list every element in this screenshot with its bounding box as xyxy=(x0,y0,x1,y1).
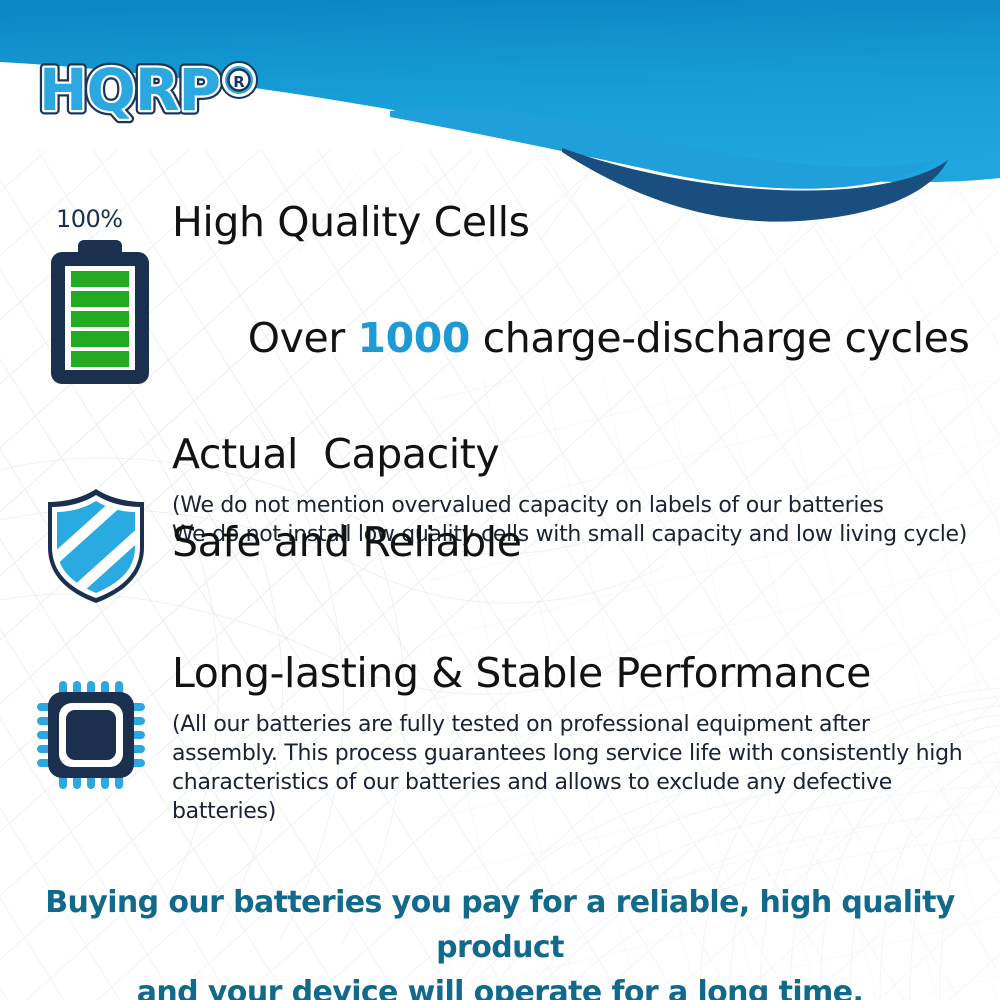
chip-icon-wrap xyxy=(28,672,154,798)
feature-1-heading-1: High Quality Cells xyxy=(172,193,982,251)
logo-registered-mark: R xyxy=(224,65,254,95)
feature-3-heading-1: Long-lasting & Stable Performance xyxy=(172,644,984,702)
feature-3-body-line-1: (All our batteries are fully tested on p… xyxy=(172,710,984,739)
logo-text-fill: HQRP xyxy=(39,58,220,124)
chip-icon xyxy=(28,672,154,798)
chip-core xyxy=(66,710,116,760)
cycles-count: 1000 xyxy=(357,314,470,362)
battery-bar-5 xyxy=(71,271,129,287)
hqrp-logo: HQRP HQRP HQRP R HQRP xyxy=(36,58,266,132)
battery-percent-label: 100% xyxy=(56,205,123,233)
feature-long-lasting-performance: Long-lasting & Stable Performance (All o… xyxy=(172,644,984,826)
heading-suffix: charge-discharge cycles xyxy=(470,314,969,362)
battery-100-icon-wrap: 100% xyxy=(40,200,160,390)
infographic-page: HQRP HQRP HQRP R HQRP 100% xyxy=(0,0,1000,1000)
feature-3-body-line-3: characteristics of our batteries and all… xyxy=(172,768,984,797)
feature-1-heading-2: Over 1000 charge-discharge cycles xyxy=(172,251,982,425)
feature-safe-and-reliable: Safe and Reliable xyxy=(172,513,982,571)
tagline-line-1: Buying our batteries you pay for a relia… xyxy=(0,880,1000,970)
heading-prefix: Over xyxy=(248,314,358,362)
wave-light-ribbon xyxy=(390,107,938,188)
battery-bar-3 xyxy=(71,311,129,327)
battery-bar-4 xyxy=(71,291,129,307)
tagline-line-2: and your device will operate for a long … xyxy=(0,970,1000,1000)
bottom-tagline: Buying our batteries you pay for a relia… xyxy=(0,880,1000,1000)
feature-3-body-line-2: assembly. This process guarantees long s… xyxy=(172,739,984,768)
shield-icon xyxy=(40,484,152,604)
feature-2-heading-1: Safe and Reliable xyxy=(172,513,982,571)
feature-3-body-line-4: batteries) xyxy=(172,797,984,826)
feature-3-body: (All our batteries are fully tested on p… xyxy=(172,710,984,826)
battery-bar-1 xyxy=(71,351,129,367)
shield-icon-wrap xyxy=(40,484,152,604)
feature-high-quality-cells: High Quality Cells Over 1000 charge-disc… xyxy=(172,193,982,549)
feature-1-heading-3: Actual Capacity xyxy=(172,425,982,483)
battery-bar-2 xyxy=(71,331,129,347)
svg-text:R: R xyxy=(233,73,245,91)
